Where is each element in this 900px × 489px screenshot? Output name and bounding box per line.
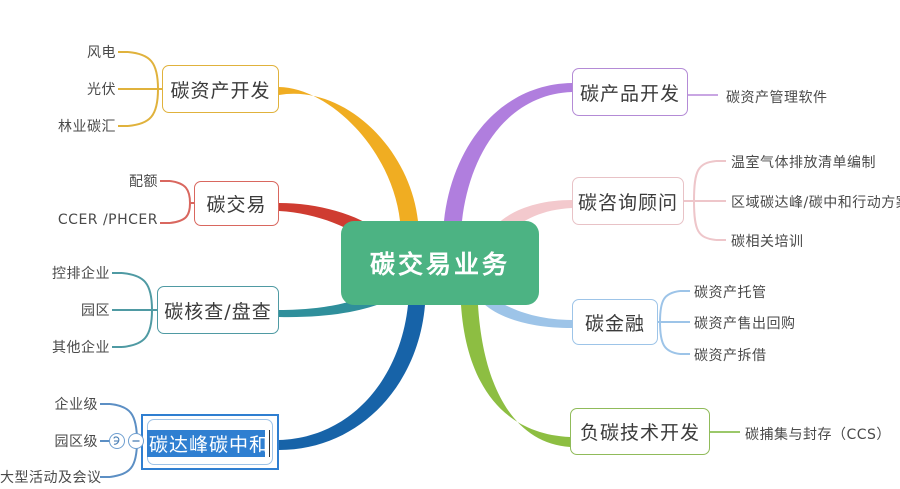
leaf-carbon-consulting-1[interactable]: 区域碳达峰/碳中和行动方案 [731,192,900,212]
leaf-carbon-trading-1[interactable]: CCER /PHCER [0,212,158,228]
leaf-carbon-asset-development-1[interactable]: 光伏 [0,79,116,99]
leaf-carbon-finance-0[interactable]: 碳资产托管 [694,282,767,302]
branch-node-carbon-asset-development[interactable]: 碳资产开发 [162,65,279,113]
collapse-e-icon[interactable] [109,433,125,449]
branch-wire-carbon-peak-neutrality [279,305,425,450]
leaf-carbon-verification-2[interactable]: 其他企业 [0,337,110,357]
branch-node-negative-carbon-tech[interactable]: 负碳技术开发 [570,408,710,455]
branch-wire-carbon-product-development [444,83,572,221]
branch-node-carbon-verification[interactable]: 碳核查/盘查 [157,286,279,334]
leaf-carbon-peak-neutrality-2[interactable]: 大型活动及会议 [0,467,98,487]
leaf-carbon-asset-development-0[interactable]: 风电 [0,42,116,62]
leaf-carbon-trading-0[interactable]: 配额 [0,171,158,191]
leaf-carbon-asset-development-2[interactable]: 林业碳汇 [0,116,116,136]
branch-node-carbon-peak-neutrality-label[interactable]: 碳达峰碳中和 [147,430,265,457]
leaf-carbon-verification-0[interactable]: 控排企业 [0,263,110,283]
leaf-carbon-consulting-2[interactable]: 碳相关培训 [731,231,804,251]
leaf-carbon-finance-2[interactable]: 碳资产拆借 [694,345,767,365]
branch-node-carbon-peak-neutrality-editing[interactable]: 碳达峰碳中和 [141,414,279,470]
branch-wire-carbon-asset-development [279,87,418,221]
leaf-carbon-peak-neutrality-1[interactable]: 园区级 [0,431,98,451]
collapse-minus-icon[interactable] [128,433,144,449]
text-caret [269,430,270,457]
branch-node-carbon-product-development[interactable]: 碳产品开发 [572,68,688,116]
leaf-carbon-finance-1[interactable]: 碳资产售出回购 [694,313,796,333]
leaf-carbon-verification-1[interactable]: 园区 [0,300,110,320]
branch-node-carbon-consulting[interactable]: 碳咨询顾问 [572,177,684,225]
leaf-carbon-consulting-0[interactable]: 温室气体排放清单编制 [731,152,876,172]
leaf-carbon-peak-neutrality-0[interactable]: 企业级 [0,394,98,414]
branch-node-carbon-finance[interactable]: 碳金融 [572,299,658,345]
root-node[interactable]: 碳交易业务 [341,221,539,305]
leaf-brace-carbon-trading [170,181,190,223]
leaf-negative-carbon-tech-0[interactable]: 碳捕集与封存（CCS） [745,424,891,444]
branch-node-carbon-trading[interactable]: 碳交易 [194,181,279,226]
mindmap-canvas[interactable]: 碳交易业务 碳资产开发 碳交易 碳核查/盘查 碳产品开发 碳咨询顾问 碳金融 负… [0,0,900,489]
leaf-carbon-product-development-0[interactable]: 碳资产管理软件 [726,87,828,107]
